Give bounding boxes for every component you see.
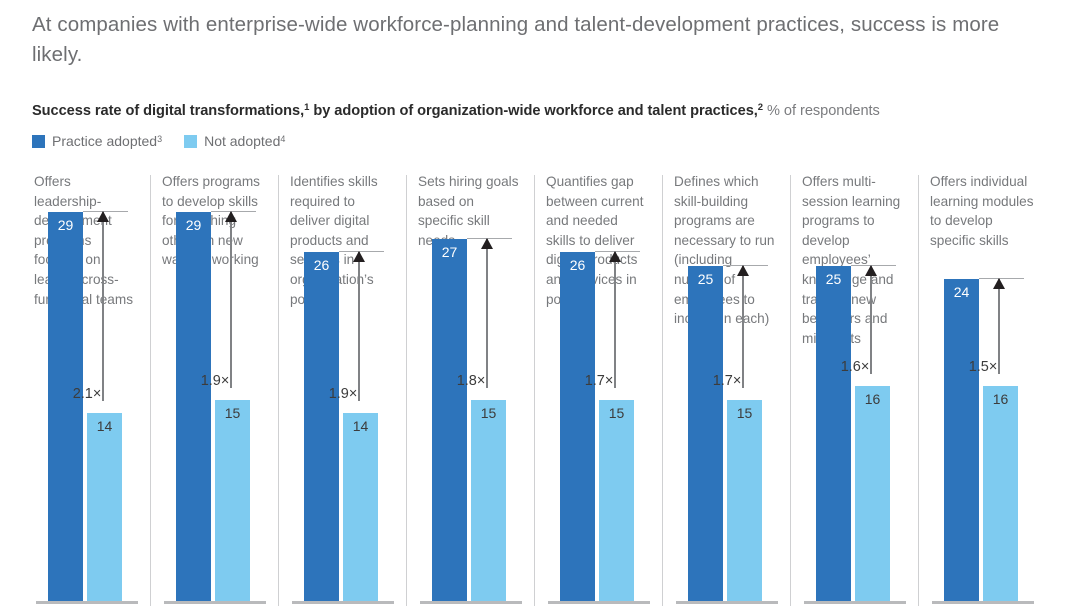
legend-item-not_adopted[interactable]: Not adopted4 <box>184 133 285 149</box>
subtitle-part-2: by adoption of organization-wide workfor… <box>309 103 757 119</box>
ratio-label: 1.9× <box>176 373 254 389</box>
legend-footnote: 3 <box>157 134 162 144</box>
axis-baseline <box>420 601 522 604</box>
bar-not-adopted[interactable]: 15 <box>727 400 762 601</box>
ratio-arrow <box>486 239 488 388</box>
bar-value-adopted: 29 <box>48 217 83 233</box>
bar-value-not-adopted: 15 <box>727 405 762 421</box>
column-plot: 29142.1× <box>22 172 150 606</box>
bar-value-not-adopted: 15 <box>471 405 506 421</box>
chart-column-3: Identifies skills required to deliver di… <box>278 172 406 606</box>
bar-not-adopted[interactable]: 15 <box>599 400 634 601</box>
bar-value-adopted: 25 <box>688 271 723 287</box>
bar-value-not-adopted: 15 <box>599 405 634 421</box>
subtitle-unit: % of respondents <box>763 103 880 119</box>
chart-column-1: Offers leadership-development programs f… <box>22 172 150 606</box>
legend-label: Practice adopted3 <box>52 133 162 149</box>
bar-value-adopted: 29 <box>176 217 211 233</box>
chart-column-7: Offers multi-session learning programs t… <box>790 172 918 606</box>
ratio-arrow <box>614 252 616 388</box>
ratio-arrow <box>102 212 104 401</box>
ratio-label: 1.5× <box>944 359 1022 375</box>
bar-practice-adopted[interactable]: 25 <box>688 266 723 601</box>
axis-baseline <box>676 601 778 604</box>
bar-not-adopted[interactable]: 14 <box>87 413 122 601</box>
arrow-head-icon <box>865 265 877 276</box>
column-plot: 25151.7× <box>662 172 790 606</box>
bar-chart: Offers leadership-development programs f… <box>22 172 1062 606</box>
bar-value-adopted: 27 <box>432 244 467 260</box>
chart-column-8: Offers individual learning modules to de… <box>918 172 1046 606</box>
bar-value-adopted: 25 <box>816 271 851 287</box>
axis-baseline <box>292 601 394 604</box>
bar-not-adopted[interactable]: 15 <box>471 400 506 601</box>
bar-value-not-adopted: 14 <box>343 418 378 434</box>
ratio-arrow <box>230 212 232 388</box>
arrow-head-icon <box>609 251 621 262</box>
bar-value-not-adopted: 15 <box>215 405 250 421</box>
ratio-label: 1.7× <box>560 373 638 389</box>
ratio-label: 1.9× <box>304 386 382 402</box>
ratio-label: 1.6× <box>816 359 894 375</box>
chart-column-5: Quantifies gap between current and neede… <box>534 172 662 606</box>
bar-value-not-adopted: 14 <box>87 418 122 434</box>
axis-baseline <box>164 601 266 604</box>
arrow-head-icon <box>97 211 109 222</box>
ratio-label: 1.8× <box>432 373 510 389</box>
page-title: At companies with enterprise-wide workfo… <box>32 10 1052 70</box>
chart-column-4: Sets hiring goals based on specific skil… <box>406 172 534 606</box>
column-plot: 25161.6× <box>790 172 918 606</box>
bar-practice-adopted[interactable]: 29 <box>176 212 211 601</box>
arrow-head-icon <box>353 251 365 262</box>
subtitle-part-1: Success rate of digital transformations, <box>32 103 304 119</box>
bar-value-adopted: 26 <box>560 257 595 273</box>
bar-value-not-adopted: 16 <box>983 391 1018 407</box>
bar-not-adopted[interactable]: 16 <box>855 386 890 601</box>
column-plot: 29151.9× <box>150 172 278 606</box>
chart-legend: Practice adopted3Not adopted4 <box>32 133 285 149</box>
bar-value-adopted: 26 <box>304 257 339 273</box>
bar-practice-adopted[interactable]: 26 <box>560 252 595 601</box>
column-plot: 27151.8× <box>406 172 534 606</box>
column-plot: 24161.5× <box>918 172 1046 606</box>
bar-practice-adopted[interactable]: 27 <box>432 239 467 601</box>
bar-not-adopted[interactable]: 15 <box>215 400 250 601</box>
ratio-label: 1.7× <box>688 373 766 389</box>
bar-value-not-adopted: 16 <box>855 391 890 407</box>
legend-footnote: 4 <box>280 134 285 144</box>
ratio-arrow <box>358 252 360 401</box>
bar-practice-adopted[interactable]: 25 <box>816 266 851 601</box>
column-plot: 26141.9× <box>278 172 406 606</box>
axis-baseline <box>804 601 906 604</box>
legend-swatch-icon <box>184 135 197 148</box>
arrow-head-icon <box>993 278 1005 289</box>
axis-baseline <box>932 601 1034 604</box>
legend-label: Not adopted4 <box>204 133 285 149</box>
bar-not-adopted[interactable]: 16 <box>983 386 1018 601</box>
bar-practice-adopted[interactable]: 29 <box>48 212 83 601</box>
bar-practice-adopted[interactable]: 24 <box>944 279 979 601</box>
legend-swatch-icon <box>32 135 45 148</box>
chart-column-2: Offers programs to develop skills for co… <box>150 172 278 606</box>
ratio-label: 2.1× <box>48 386 126 402</box>
bar-practice-adopted[interactable]: 26 <box>304 252 339 601</box>
legend-item-adopted[interactable]: Practice adopted3 <box>32 133 162 149</box>
chart-subtitle: Success rate of digital transformations,… <box>32 99 1062 120</box>
axis-baseline <box>548 601 650 604</box>
bar-value-adopted: 24 <box>944 284 979 300</box>
bar-not-adopted[interactable]: 14 <box>343 413 378 601</box>
ratio-arrow <box>870 266 872 374</box>
bar-group: 2416 <box>944 172 1022 601</box>
column-plot: 26151.7× <box>534 172 662 606</box>
arrow-head-icon <box>481 238 493 249</box>
chart-column-6: Defines which skill-building programs ar… <box>662 172 790 606</box>
bar-group: 2516 <box>816 172 894 601</box>
ratio-arrow <box>742 266 744 388</box>
arrow-head-icon <box>737 265 749 276</box>
arrow-head-icon <box>225 211 237 222</box>
axis-baseline <box>36 601 138 604</box>
